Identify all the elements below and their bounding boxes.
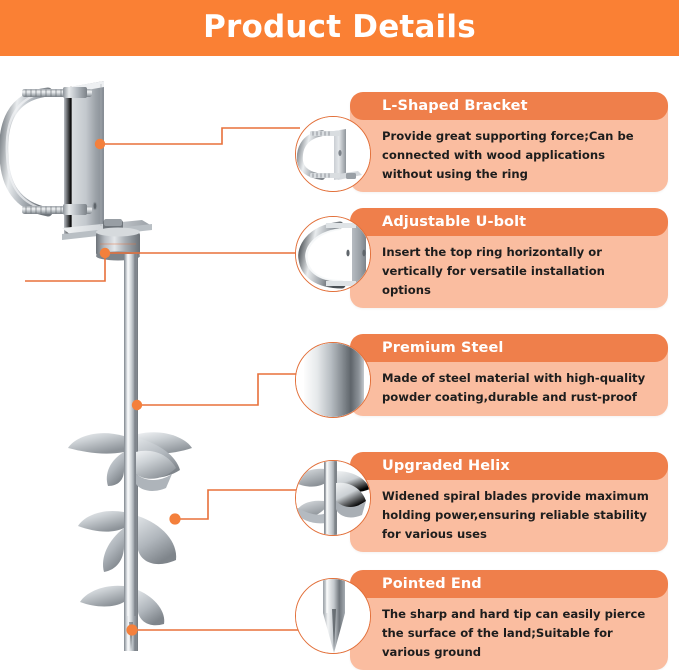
callout-titlebar: Upgraded Helix bbox=[350, 452, 668, 480]
callout-titlebar: Premium Steel bbox=[350, 334, 668, 362]
callout-titlebar: Adjustable U-bolt bbox=[350, 208, 668, 236]
callout-title: Adjustable U-bolt bbox=[350, 214, 526, 230]
helix-thumbnail-icon bbox=[295, 460, 371, 536]
callout-title: L-Shaped Bracket bbox=[350, 98, 528, 114]
callout-card: Upgraded Helix Widened spiral blades pro… bbox=[350, 452, 668, 552]
callout-card: Adjustable U-bolt Insert the top ring ho… bbox=[350, 208, 668, 308]
callout-title: Premium Steel bbox=[350, 340, 503, 356]
page-title: Product Details bbox=[0, 0, 679, 56]
callout-description: Insert the top ring horizontally or vert… bbox=[350, 236, 668, 308]
callout-title: Pointed End bbox=[350, 576, 482, 592]
product-illustration bbox=[0, 56, 290, 651]
steel-shaft-thumbnail-icon bbox=[295, 342, 371, 418]
callout-card: Pointed End The sharp and hard tip can e… bbox=[350, 570, 668, 670]
pointed-tip-thumbnail-icon bbox=[295, 578, 371, 654]
callout-card: Premium Steel Made of steel material wit… bbox=[350, 334, 668, 416]
u-bolt-thumbnail-icon bbox=[295, 216, 371, 292]
callout-description: Widened spiral blades provide maximum ho… bbox=[350, 480, 668, 552]
callout-card: L-Shaped Bracket Provide great supportin… bbox=[350, 92, 668, 192]
callout-titlebar: L-Shaped Bracket bbox=[350, 92, 668, 120]
bracket-thumbnail-icon bbox=[295, 116, 371, 192]
l-shaped-bracket-plate bbox=[62, 81, 152, 240]
callout-description: Made of steel material with high-quality… bbox=[350, 362, 668, 416]
callout-title: Upgraded Helix bbox=[350, 458, 510, 474]
callout-titlebar: Pointed End bbox=[350, 570, 668, 598]
callout-description: The sharp and hard tip can easily pierce… bbox=[350, 598, 668, 670]
callout-description: Provide great supporting force;Can be co… bbox=[350, 120, 668, 192]
